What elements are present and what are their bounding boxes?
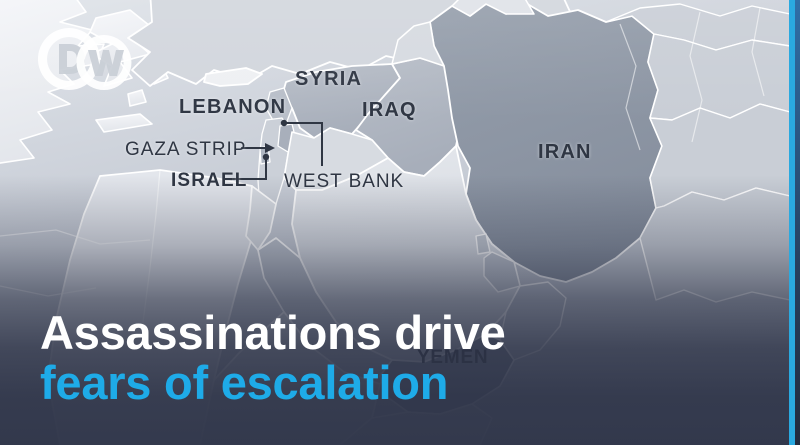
map-label-iran: IRAN [538,141,592,164]
map-label-iraq: IRAQ [362,99,417,122]
map-label-lebanon: LEBANON [179,96,286,119]
map-label-syria: SYRIA [295,68,362,91]
map-label-israel: ISRAEL [171,170,248,192]
map-label-gaza-strip: GAZA STRIP [125,139,246,161]
headline-line-2: fears of escalation [40,358,506,407]
accent-edge-bar-dark [795,0,800,445]
region-gaza-strip-area [260,146,270,164]
headline-line-1: Assassinations drive [40,308,506,357]
dw-logo [38,28,138,90]
map-label-west-bank: WEST BANK [284,171,404,193]
headline: Assassinations drive fears of escalation [40,308,506,407]
dw-news-thumbnail: SYRIA LEBANON IRAQ IRAN GAZA STRIP ISRAE… [0,0,800,445]
